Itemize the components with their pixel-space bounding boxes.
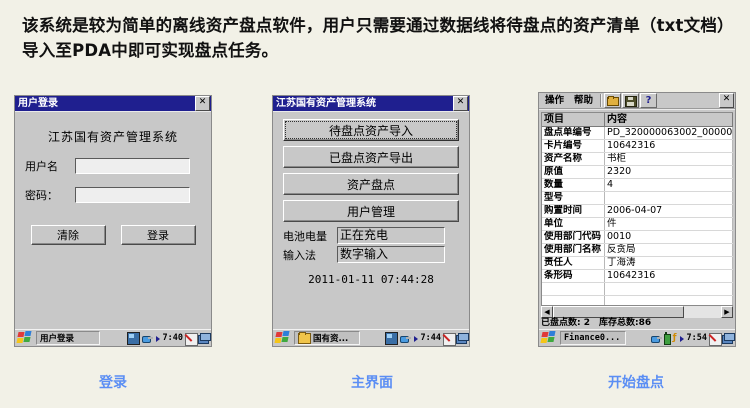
taskbar-item-label: Finance0... xyxy=(564,333,620,343)
close-icon[interactable]: ✕ xyxy=(453,96,468,111)
start-flag-green xyxy=(23,337,30,342)
main-titlebar: 江苏国有资产管理系统 ✕ xyxy=(273,96,469,111)
export-counted-assets-button[interactable]: 已盘点资产导出 xyxy=(283,146,459,168)
column-header-item: 项目 xyxy=(542,113,605,127)
display-icon[interactable] xyxy=(385,332,398,345)
username-label: 用户名 xyxy=(25,158,75,174)
connection-icon[interactable] xyxy=(142,333,153,344)
stylus-icon[interactable] xyxy=(185,333,196,344)
scroll-left-arrow-icon[interactable]: ◀ xyxy=(541,306,553,318)
input-method-value: 数字输入 xyxy=(337,246,445,263)
horizontal-scrollbar[interactable]: ◀ ▶ xyxy=(541,305,733,318)
list-statusbar: 已盘点数: 2 库存总数:86 xyxy=(541,318,733,329)
taskbar-item-label: 国有资... xyxy=(313,332,348,344)
start-flag-green xyxy=(547,337,554,342)
chevron-right-icon xyxy=(679,333,685,344)
tray-clock[interactable]: 7:40 xyxy=(163,333,183,343)
table-row: 资产名称书柜 xyxy=(542,153,733,166)
help-question-icon[interactable]: ? xyxy=(640,93,657,108)
row-value[interactable] xyxy=(605,296,733,306)
start-flag-red xyxy=(541,332,548,337)
list-client-area: 项目 内容 盘点单编号PD_320000063002_000000 卡片编号10… xyxy=(539,109,735,329)
stock-total-label: 库存总数:86 xyxy=(599,318,651,329)
table-row: 单位件 xyxy=(542,218,733,231)
windows-stack-icon[interactable] xyxy=(456,333,467,344)
start-button-icon[interactable] xyxy=(275,331,291,345)
user-management-button[interactable]: 用户管理 xyxy=(283,200,459,222)
row-key: 卡片编号 xyxy=(542,140,605,153)
row-key: 责任人 xyxy=(542,257,605,270)
row-key: 数量 xyxy=(542,179,605,192)
start-button-icon[interactable] xyxy=(541,331,557,345)
table-row: 条形码10642316 xyxy=(542,270,733,283)
login-heading: 江苏国有资产管理系统 xyxy=(15,128,211,145)
username-input[interactable] xyxy=(75,158,190,174)
start-flag-yellow xyxy=(16,338,23,343)
stylus-icon[interactable] xyxy=(443,333,454,344)
row-key: 资产名称 xyxy=(542,153,605,166)
menu-operations[interactable]: 操作 xyxy=(540,94,569,108)
table-row: 卡片编号10642316 xyxy=(542,140,733,153)
charging-bolt-icon: ƒ xyxy=(673,333,677,344)
table-row: 使用部门代码0010 xyxy=(542,231,733,244)
row-value[interactable]: 0010 xyxy=(605,231,733,244)
table-row: 数量4 xyxy=(542,179,733,192)
table-row xyxy=(542,296,733,306)
folder-icon xyxy=(298,333,311,344)
caption-inventory: 开始盘点 xyxy=(536,372,736,392)
row-key: 使用部门代码 xyxy=(542,231,605,244)
row-key: 使用部门名称 xyxy=(542,244,605,257)
row-key: 原值 xyxy=(542,166,605,179)
battery-row: 电池电量 正在充电 xyxy=(283,227,469,244)
main-taskbar: 国有资... 7:44 xyxy=(273,329,469,346)
login-button[interactable]: 登录 xyxy=(121,225,196,245)
row-key: 单位 xyxy=(542,218,605,231)
row-value[interactable]: 丁海涛 xyxy=(605,257,733,270)
main-window: 江苏国有资产管理系统 ✕ 待盘点资产导入 已盘点资产导出 资产盘点 用户管理 电… xyxy=(272,95,470,347)
password-row: 密码： xyxy=(25,187,211,203)
start-flag-yellow xyxy=(540,338,547,343)
username-row: 用户名 xyxy=(25,158,211,174)
taskbar-item-label: 用户登录 xyxy=(40,332,74,344)
main-button-group: 待盘点资产导入 已盘点资产导出 资产盘点 用户管理 xyxy=(273,112,469,222)
asset-detail-table: 项目 内容 盘点单编号PD_320000063002_000000 卡片编号10… xyxy=(542,113,733,305)
scrollbar-track[interactable] xyxy=(553,306,721,318)
table-row: 责任人丁海涛 xyxy=(542,257,733,270)
row-key: 购置时间 xyxy=(542,205,605,218)
login-window: 用户登录 ✕ 江苏国有资产管理系统 用户名 密码： 清除 登录 xyxy=(14,95,212,347)
system-tray: 7:44 xyxy=(385,331,467,346)
open-folder-icon[interactable] xyxy=(604,93,621,108)
row-value[interactable]: 2320 xyxy=(605,166,733,179)
row-value[interactable]: 2006-04-07 xyxy=(605,205,733,218)
close-icon[interactable]: ✕ xyxy=(195,96,210,111)
list-taskbar: Finance0... ƒ 7:54 xyxy=(539,329,735,346)
asset-inventory-button[interactable]: 资产盘点 xyxy=(283,173,459,195)
main-client-area: 待盘点资产导入 已盘点资产导出 资产盘点 用户管理 电池电量 正在充电 输入法 … xyxy=(273,111,469,329)
stylus-icon[interactable] xyxy=(709,333,720,344)
table-header-row: 项目 内容 xyxy=(542,113,733,127)
import-pending-assets-button[interactable]: 待盘点资产导入 xyxy=(283,119,459,141)
intro-paragraph: 该系统是较为简单的离线资产盘点软件，用户只需要通过数据线将待盘点的资产清单（tx… xyxy=(22,14,732,64)
system-tray: ƒ 7:54 xyxy=(651,331,733,346)
row-value[interactable]: PD_320000063002_000000 xyxy=(605,127,733,140)
row-key xyxy=(542,296,605,306)
chevron-right-icon xyxy=(413,333,419,344)
start-flag-yellow xyxy=(274,338,281,343)
start-flag-green xyxy=(281,337,288,342)
table-row: 购置时间2006-04-07 xyxy=(542,205,733,218)
caption-main: 主界面 xyxy=(272,372,472,392)
table-row: 使用部门名称反贪局 xyxy=(542,244,733,257)
table-row: 盘点单编号PD_320000063002_000000 xyxy=(542,127,733,140)
datetime-display: 2011-01-11 07:44:28 xyxy=(273,273,469,286)
row-key: 条形码 xyxy=(542,270,605,283)
row-value[interactable] xyxy=(605,192,733,205)
windows-stack-icon[interactable] xyxy=(722,333,733,344)
login-window-title: 用户登录 xyxy=(18,96,195,111)
battery-value: 正在充电 xyxy=(337,227,445,244)
main-window-title: 江苏国有资产管理系统 xyxy=(276,96,453,111)
system-tray: 7:40 xyxy=(127,331,209,346)
close-icon[interactable]: ✕ xyxy=(719,93,734,108)
windows-stack-icon[interactable] xyxy=(198,333,209,344)
login-taskbar: 用户登录 7:40 xyxy=(15,329,211,346)
table-row: 原值2320 xyxy=(542,166,733,179)
row-value[interactable]: 件 xyxy=(605,218,733,231)
row-value[interactable]: 反贪局 xyxy=(605,244,733,257)
row-value[interactable]: 10642316 xyxy=(605,140,733,153)
login-button-row: 清除 登录 xyxy=(23,225,203,245)
start-flag-blue xyxy=(548,331,555,336)
start-button-icon[interactable] xyxy=(17,331,33,345)
row-key xyxy=(542,283,605,296)
list-window: 操作 帮助 ? ✕ 项目 内容 盘点单编号PD_320000063002_000… xyxy=(538,92,736,347)
row-key: 型号 xyxy=(542,192,605,205)
column-header-content: 内容 xyxy=(605,113,733,127)
save-disk-icon[interactable] xyxy=(622,93,639,108)
start-flag-blue xyxy=(24,331,31,336)
scroll-right-arrow-icon[interactable]: ▶ xyxy=(721,306,733,318)
counted-total-label: 已盘点数: 2 xyxy=(541,318,590,329)
table-row: 型号 xyxy=(542,192,733,205)
input-method-label: 输入法 xyxy=(283,247,337,263)
battery-label: 电池电量 xyxy=(283,228,337,244)
login-client-area: 江苏国有资产管理系统 用户名 密码： 清除 登录 xyxy=(15,111,211,329)
battery-icon[interactable] xyxy=(664,333,671,344)
start-flag-blue xyxy=(282,331,289,336)
connection-icon[interactable] xyxy=(651,333,662,344)
tray-clock[interactable]: 7:54 xyxy=(687,333,707,343)
scrollbar-thumb[interactable] xyxy=(553,306,684,318)
taskbar-item-login[interactable]: 用户登录 xyxy=(36,331,100,345)
row-key: 盘点单编号 xyxy=(542,127,605,140)
clear-button[interactable]: 清除 xyxy=(31,225,106,245)
menubar-divider xyxy=(600,94,602,107)
row-value[interactable]: 书柜 xyxy=(605,153,733,166)
asset-detail-grid[interactable]: 项目 内容 盘点单编号PD_320000063002_000000 卡片编号10… xyxy=(541,112,733,305)
start-flag-red xyxy=(275,332,282,337)
menu-help[interactable]: 帮助 xyxy=(569,94,598,108)
row-value[interactable]: 4 xyxy=(605,179,733,192)
tray-clock[interactable]: 7:44 xyxy=(421,333,441,343)
login-titlebar: 用户登录 ✕ xyxy=(15,96,211,111)
connection-icon[interactable] xyxy=(400,333,411,344)
row-value[interactable]: 10642316 xyxy=(605,270,733,283)
taskbar-item-main[interactable]: 国有资... xyxy=(294,331,360,345)
table-row xyxy=(542,283,733,296)
row-value[interactable] xyxy=(605,283,733,296)
chevron-right-icon xyxy=(155,333,161,344)
input-method-row: 输入法 数字输入 xyxy=(283,246,469,263)
password-input[interactable] xyxy=(75,187,190,203)
display-icon[interactable] xyxy=(127,332,140,345)
taskbar-item-finance[interactable]: Finance0... xyxy=(560,331,626,345)
password-label: 密码： xyxy=(25,187,75,203)
start-flag-red xyxy=(17,332,24,337)
caption-login: 登录 xyxy=(13,372,213,392)
list-menubar: 操作 帮助 ? ✕ xyxy=(539,93,735,109)
